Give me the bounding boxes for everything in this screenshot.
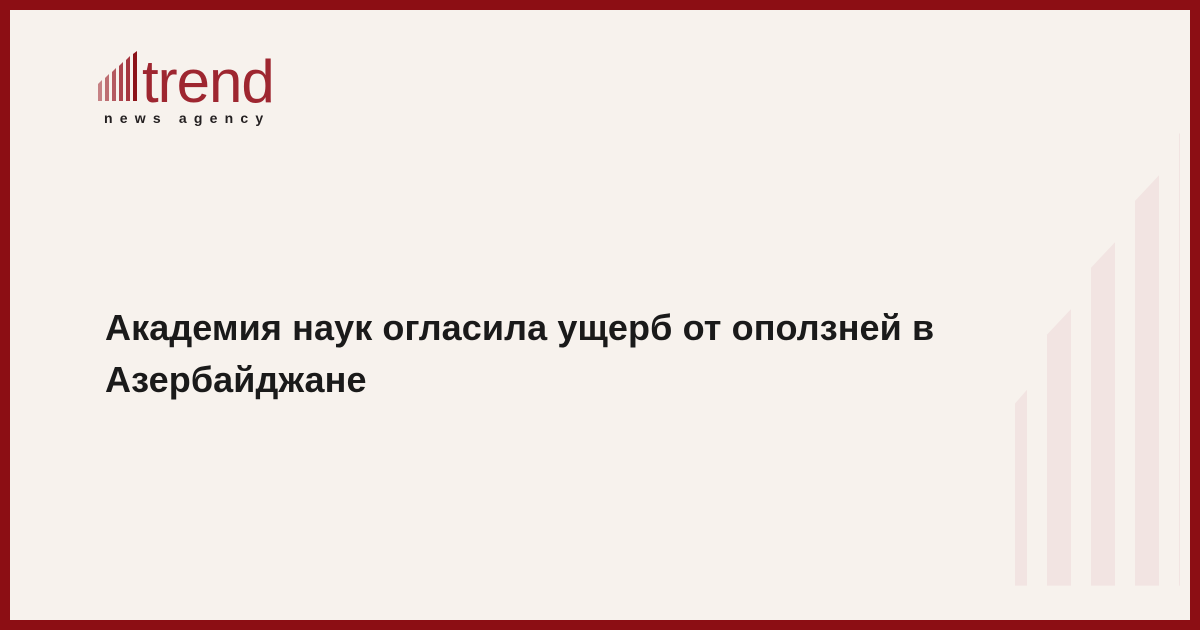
brand-logo[interactable]: trend news agency bbox=[98, 48, 398, 126]
brand-name: trend bbox=[142, 57, 274, 107]
ascending-bars-icon bbox=[98, 51, 140, 101]
ascending-bars-watermark-icon bbox=[1015, 10, 1180, 620]
logo-mark: trend bbox=[98, 48, 398, 104]
news-card: trend news agency Академия наук огласила… bbox=[0, 0, 1200, 630]
article-headline: Академия наук огласила ущерб от оползней… bbox=[105, 302, 1005, 406]
card-inner: trend news agency Академия наук огласила… bbox=[10, 10, 1190, 620]
